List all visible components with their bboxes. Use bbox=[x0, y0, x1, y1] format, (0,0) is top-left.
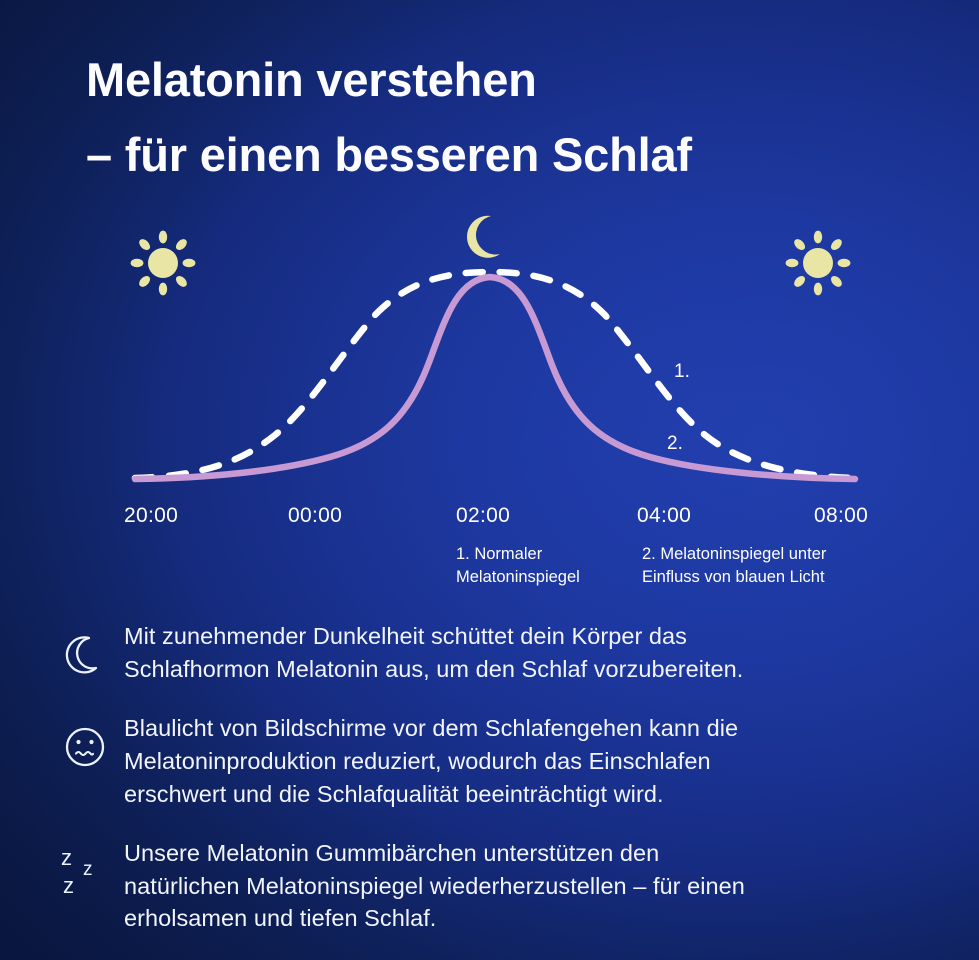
axis-tick-1: 00:00 bbox=[288, 504, 342, 528]
benefit-list: Mit zunehmender Dunkelheit schüttet dein… bbox=[46, 620, 946, 960]
list-item: Blaulicht von Bildschirme vor dem Schlaf… bbox=[46, 712, 946, 811]
title-line-1: Melatonin verstehen bbox=[86, 42, 926, 117]
title-line-2: – für einen besseren Schlaf bbox=[86, 117, 926, 192]
sleep-zzz-icon: z z z bbox=[46, 837, 124, 903]
zzz-glyph-top: z bbox=[61, 845, 72, 871]
axis-tick-2: 02:00 bbox=[456, 504, 510, 528]
axis-tick-0: 20:00 bbox=[124, 504, 178, 528]
annotation-label-1: 1. bbox=[674, 361, 690, 382]
axis-tick-4: 08:00 bbox=[814, 504, 868, 528]
curve-normal-melatonin bbox=[135, 272, 855, 478]
sun-icon-left bbox=[131, 231, 196, 296]
legend-entry-bluelight: 2. Melatoninspiegel unter Einfluss von b… bbox=[642, 543, 902, 590]
zzz-glyph-mid: z bbox=[83, 859, 93, 881]
curve-bluelight-melatonin bbox=[135, 277, 855, 479]
infographic-page: Melatonin verstehen – für einen besseren… bbox=[0, 0, 979, 960]
page-title: Melatonin verstehen – für einen besseren… bbox=[86, 42, 926, 192]
list-item: Mit zunehmender Dunkelheit schüttet dein… bbox=[46, 620, 946, 686]
moon-icon-top bbox=[467, 216, 500, 258]
axis-tick-3: 04:00 bbox=[637, 504, 691, 528]
melatonin-chart: 1. 2. bbox=[0, 195, 979, 495]
zzz-glyph-bottom: z bbox=[63, 873, 74, 899]
chart-x-axis: 20:00 00:00 02:00 04:00 08:00 bbox=[0, 500, 979, 540]
list-item-text: Mit zunehmender Dunkelheit schüttet dein… bbox=[124, 620, 946, 686]
sun-icon-right bbox=[786, 231, 851, 296]
legend-entry-normal: 1. Normaler Melatoninspiegel bbox=[456, 543, 646, 590]
list-item: z z z Unsere Melatonin Gummibärchen unte… bbox=[46, 837, 946, 936]
moon-outline-icon bbox=[46, 620, 124, 686]
annotation-label-2: 2. bbox=[667, 433, 683, 454]
list-item-text: Blaulicht von Bildschirme vor dem Schlaf… bbox=[124, 712, 946, 811]
list-item-text: Unsere Melatonin Gummibärchen unterstütz… bbox=[124, 837, 946, 936]
confused-face-icon bbox=[46, 712, 124, 778]
